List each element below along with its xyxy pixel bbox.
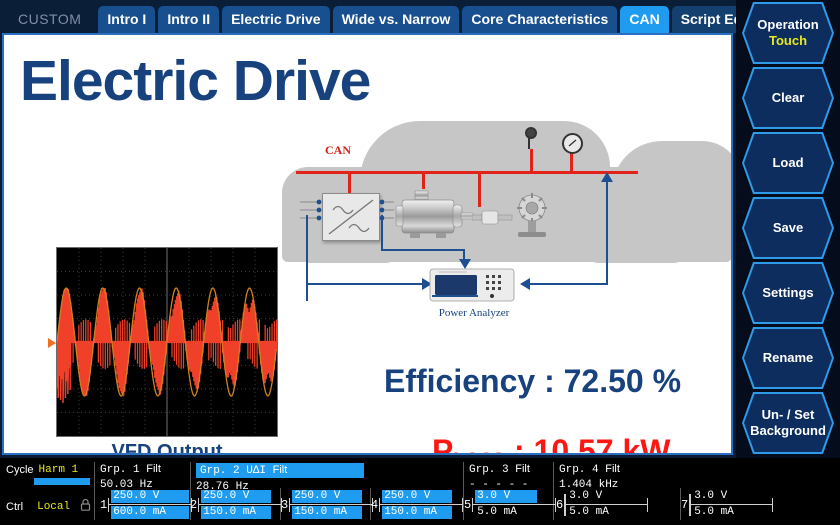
- channel-number: 2: [190, 498, 197, 512]
- ploss-subscript: LOSS: [453, 450, 505, 455]
- channel-axis-cap: [108, 498, 109, 512]
- group-4-block[interactable]: Grp. 4 Filt 1.404 kHz: [559, 463, 620, 491]
- softkey-clear[interactable]: Clear: [742, 67, 834, 129]
- group-2-block[interactable]: Grp. 2 UΔI Filt 28.76 Hz: [196, 463, 364, 493]
- channel-axis-cap: [564, 494, 566, 516]
- car-nose-shape: [612, 141, 733, 193]
- group-filter: Filt: [515, 463, 530, 475]
- group-name: Grp. 4: [559, 464, 599, 476]
- power-analyzer-icon: [429, 265, 517, 305]
- channel-current: 5.0 mA: [475, 506, 519, 519]
- signal-line-output-left: [522, 283, 608, 285]
- signal-line-inverter-down: [306, 215, 308, 301]
- efficiency-readout: Efficiency : 72.50 %: [384, 363, 681, 400]
- channel-2[interactable]: 2 250.0 V 150.0 mA: [190, 490, 282, 520]
- softkey-save-text: Save: [742, 197, 834, 259]
- status-bar: Cycle Harm 1 Ctrl Local Grp. 1 Filt 50.0…: [0, 458, 840, 525]
- ploss-value: : 10.57 kW: [505, 433, 670, 455]
- group-name: Grp. 2: [200, 465, 240, 477]
- ctrl-block: Ctrl Local: [6, 498, 91, 515]
- softkey-clear-text: Clear: [742, 67, 834, 129]
- ctrl-value[interactable]: Local: [37, 501, 70, 513]
- channel-axis: [289, 504, 373, 505]
- car-wheel-rear: [300, 249, 396, 263]
- softkey-sublabel: Background: [750, 423, 826, 439]
- group-mode: UΔI: [246, 465, 266, 477]
- can-drop-motor: [422, 173, 425, 189]
- channel-range-bars: 250.0 V 150.0 mA: [379, 490, 463, 520]
- channel-voltage: 250.0 V: [111, 490, 189, 503]
- group-name: Grp. 3: [469, 464, 509, 476]
- can-drop-driveshaft: [478, 173, 481, 207]
- softkey-rename-text: Rename: [742, 327, 834, 389]
- softkey-load-text: Load: [742, 132, 834, 194]
- channel-voltage: 250.0 V: [292, 490, 362, 503]
- signal-line-motor-down: [381, 215, 383, 251]
- tab-bar: CUSTOM Intro I Intro II Electric Drive W…: [0, 0, 735, 33]
- softkey-set-background[interactable]: Un- / Set Background: [742, 392, 834, 454]
- channel-axis-cap: [689, 494, 691, 516]
- channel-range-bars: 3.0 V 5.0 mA: [472, 490, 556, 520]
- waveform-plot: [57, 248, 277, 436]
- channel-axis: [108, 504, 192, 505]
- gauge-icon: [562, 133, 583, 154]
- tab-wide-vs-narrow[interactable]: Wide vs. Narrow: [333, 6, 460, 33]
- softkey-label: Rename: [763, 350, 814, 366]
- channel-1[interactable]: 1 250.0 V 600.0 mA: [100, 490, 192, 520]
- channel-axis: [198, 504, 282, 505]
- softkey-label: Operation: [757, 17, 818, 33]
- softkey-sublabel: Touch: [769, 33, 807, 49]
- channel-4[interactable]: 4 250.0 V 150.0 mA: [371, 490, 463, 520]
- softkey-label: Settings: [762, 285, 813, 301]
- channel-current: 150.0 mA: [201, 506, 271, 519]
- tab-custom[interactable]: CUSTOM: [0, 6, 95, 33]
- group-1-header: Grp. 1 Filt: [100, 463, 161, 476]
- instrument-screen: CUSTOM Intro I Intro II Electric Drive W…: [0, 0, 840, 525]
- scope-caption: VFD Output: [56, 441, 278, 455]
- can-drop-sensor: [530, 149, 533, 173]
- channel-axis-cap: [289, 498, 290, 512]
- softkey-operation[interactable]: Operation Touch: [742, 2, 834, 64]
- group-4-header: Grp. 4 Filt: [559, 463, 620, 476]
- channel-number: 7: [681, 498, 688, 512]
- channel-voltage: 3.0 V: [567, 490, 604, 503]
- channel-current: 600.0 mA: [111, 506, 189, 519]
- softkey-load[interactable]: Load: [742, 132, 834, 194]
- channel-axis: [689, 504, 773, 505]
- channel-number: 4: [371, 498, 378, 512]
- power-analyzer-label: Power Analyzer: [414, 307, 534, 319]
- softkey-label: Un- / Set: [762, 407, 815, 423]
- ploss-prefix: P: [432, 433, 453, 455]
- channel-axis-cap: [772, 498, 773, 512]
- channel-7[interactable]: 7 3.0 V 5.0 mA: [681, 490, 773, 520]
- channel-range-bars: 250.0 V 150.0 mA: [198, 490, 282, 520]
- cycle-label: Cycle: [6, 464, 34, 476]
- tab-can[interactable]: CAN: [620, 6, 668, 33]
- inverter-icon: [322, 193, 380, 241]
- channel-voltage: 3.0 V: [692, 490, 729, 503]
- signal-line-inverter-right: [306, 283, 428, 285]
- channel-voltage: 250.0 V: [382, 490, 452, 503]
- tab-intro-i[interactable]: Intro I: [98, 6, 155, 33]
- group-2-header: Grp. 2 UΔI Filt: [196, 463, 364, 478]
- channel-voltage: 250.0 V: [201, 490, 271, 503]
- channel-axis-cap: [379, 498, 380, 512]
- electric-motor-icon: [394, 189, 478, 241]
- waveform-display[interactable]: [56, 247, 278, 437]
- channel-current: 5.0 mA: [692, 506, 736, 519]
- can-drop-gauge: [570, 153, 573, 173]
- softkey-save[interactable]: Save: [742, 197, 834, 259]
- channel-axis-cap: [198, 498, 199, 512]
- channel-6[interactable]: 6 3.0 V 5.0 mA: [556, 490, 648, 520]
- can-drop-inverter: [348, 173, 351, 195]
- group-1-block[interactable]: Grp. 1 Filt 50.03 Hz: [100, 463, 161, 491]
- channel-current: 150.0 mA: [292, 506, 362, 519]
- channel-3[interactable]: 3 250.0 V 150.0 mA: [281, 490, 373, 520]
- drive-shaft-icon: [472, 207, 518, 229]
- channel-number: 6: [556, 498, 563, 512]
- group-3-block[interactable]: Grp. 3 Filt - - - - -: [469, 463, 530, 491]
- channel-current: 5.0 mA: [567, 506, 611, 519]
- group-filter: Filt: [273, 464, 288, 476]
- channel-axis: [379, 504, 463, 505]
- content-panel: Electric Drive CAN: [2, 33, 733, 455]
- tab-electric-drive[interactable]: Electric Drive: [222, 6, 330, 33]
- can-bus-label: CAN: [325, 143, 351, 158]
- power-loss-readout: PLOSS : 10.57 kW: [432, 433, 670, 455]
- signal-line-output-down: [606, 177, 608, 283]
- channel-number: 1: [100, 498, 107, 512]
- car-diagram: CAN: [282, 119, 732, 319]
- group-3-header: Grp. 3 Filt: [469, 463, 530, 476]
- channel-number: 3: [281, 498, 288, 512]
- channel-range-bars: 3.0 V 5.0 mA: [689, 490, 773, 520]
- softkey-label: Clear: [772, 90, 805, 106]
- signal-line-motor-right: [381, 249, 465, 251]
- softkey-panel: Operation Touch Clear Load Save Settings…: [736, 0, 840, 460]
- status-separator: [94, 462, 95, 520]
- softkey-label: Load: [772, 155, 803, 171]
- channel-axis-cap: [472, 498, 473, 512]
- cycle-value[interactable]: Harm 1: [39, 464, 79, 476]
- group-filter: Filt: [605, 463, 620, 475]
- channel-current: 150.0 mA: [382, 506, 452, 519]
- cycle-progress-bar: [34, 478, 90, 485]
- inverter-terminals-icon: [300, 197, 324, 235]
- arrow-to-can-bus-icon: [600, 171, 614, 183]
- softkey-rename[interactable]: Rename: [742, 327, 834, 389]
- channel-voltage: 3.0 V: [475, 490, 537, 503]
- softkey-operation-text: Operation Touch: [742, 2, 834, 64]
- softkey-set-background-text: Un- / Set Background: [742, 392, 834, 454]
- car-wheel-front: [588, 249, 684, 263]
- channel-axis: [564, 504, 648, 505]
- cycle-block: Cycle Harm 1: [6, 464, 90, 485]
- trigger-level-marker-icon: [48, 338, 56, 348]
- softkey-settings[interactable]: Settings: [742, 262, 834, 324]
- ctrl-label: Ctrl: [6, 501, 23, 513]
- differential-gearbox-icon: [514, 191, 554, 239]
- channel-range-bars: 3.0 V 5.0 mA: [564, 490, 648, 520]
- lock-icon: [80, 498, 91, 515]
- channel-axis-cap: [647, 498, 648, 512]
- softkey-settings-text: Settings: [742, 262, 834, 324]
- group-name: Grp. 1: [100, 464, 140, 476]
- channel-axis: [472, 504, 556, 505]
- group-filter: Filt: [146, 463, 161, 475]
- tab-intro-ii[interactable]: Intro II: [158, 6, 219, 33]
- channel-range-bars: 250.0 V 150.0 mA: [289, 490, 373, 520]
- channel-number: 5: [464, 498, 471, 512]
- scope-y-axis-label: Voltage V: [2, 218, 4, 303]
- softkey-label: Save: [773, 220, 803, 236]
- channel-range-bars: 250.0 V 600.0 mA: [108, 490, 192, 520]
- channel-5[interactable]: 5 3.0 V 5.0 mA: [464, 490, 556, 520]
- page-title: Electric Drive: [20, 53, 370, 110]
- tab-core-characteristics[interactable]: Core Characteristics: [462, 6, 617, 33]
- sensor-head-icon: [525, 127, 537, 139]
- arrow-into-analyzer-right-icon: [518, 277, 530, 291]
